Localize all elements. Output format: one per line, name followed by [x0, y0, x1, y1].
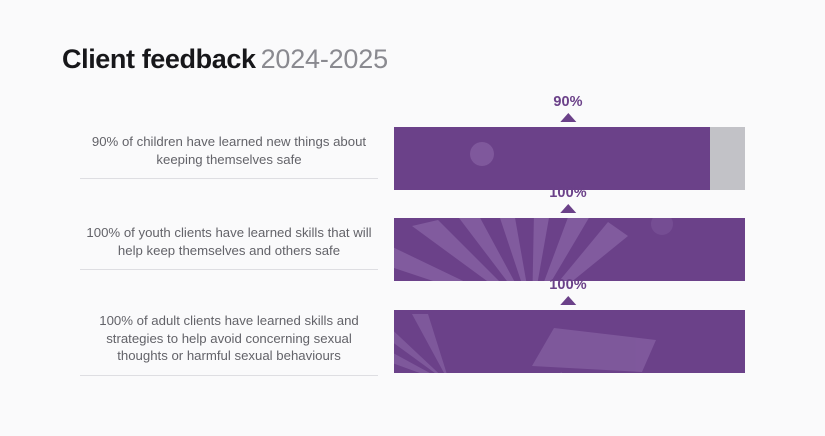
row-label: 90% of children have learned new things …	[80, 133, 378, 168]
bar-callout: 100%	[549, 185, 587, 213]
bar-track	[394, 218, 745, 281]
bar-track	[394, 310, 745, 373]
bar-value-label: 90%	[553, 94, 582, 110]
callout-arrow-icon	[560, 296, 576, 305]
row-label-wrap: 90% of children have learned new things …	[80, 133, 378, 179]
bar-fill	[394, 218, 745, 281]
row-label: 100% of youth clients have learned skill…	[80, 224, 378, 259]
feedback-rows: 90% of children have learned new things …	[0, 0, 825, 436]
bar-decoration-sunburst-rays	[394, 218, 745, 281]
row-label-wrap: 100% of adult clients have learned skill…	[80, 312, 378, 376]
callout-arrow-icon	[560, 204, 576, 213]
bar-value-label: 100%	[549, 277, 587, 293]
infographic-canvas: Client feedback2024-2025 90% of children…	[0, 0, 825, 436]
bar-area: 90%	[394, 127, 745, 190]
bar-area: 100%	[394, 218, 745, 281]
bar-callout: 100%	[549, 277, 587, 305]
bar-callout: 90%	[553, 94, 582, 122]
bar-fill	[394, 127, 710, 190]
row-divider	[80, 375, 378, 376]
bar-fill	[394, 310, 745, 373]
bar-track	[394, 127, 745, 190]
row-divider	[80, 269, 378, 270]
bar-decoration-sunburst-wedges	[394, 310, 745, 373]
row-label: 100% of adult clients have learned skill…	[80, 312, 378, 365]
bar-value-label: 100%	[549, 185, 587, 201]
bar-area: 100%	[394, 310, 745, 373]
bar-decoration-circle-accent	[394, 127, 710, 190]
row-label-wrap: 100% of youth clients have learned skill…	[80, 224, 378, 270]
callout-arrow-icon	[560, 113, 576, 122]
row-divider	[80, 178, 378, 179]
